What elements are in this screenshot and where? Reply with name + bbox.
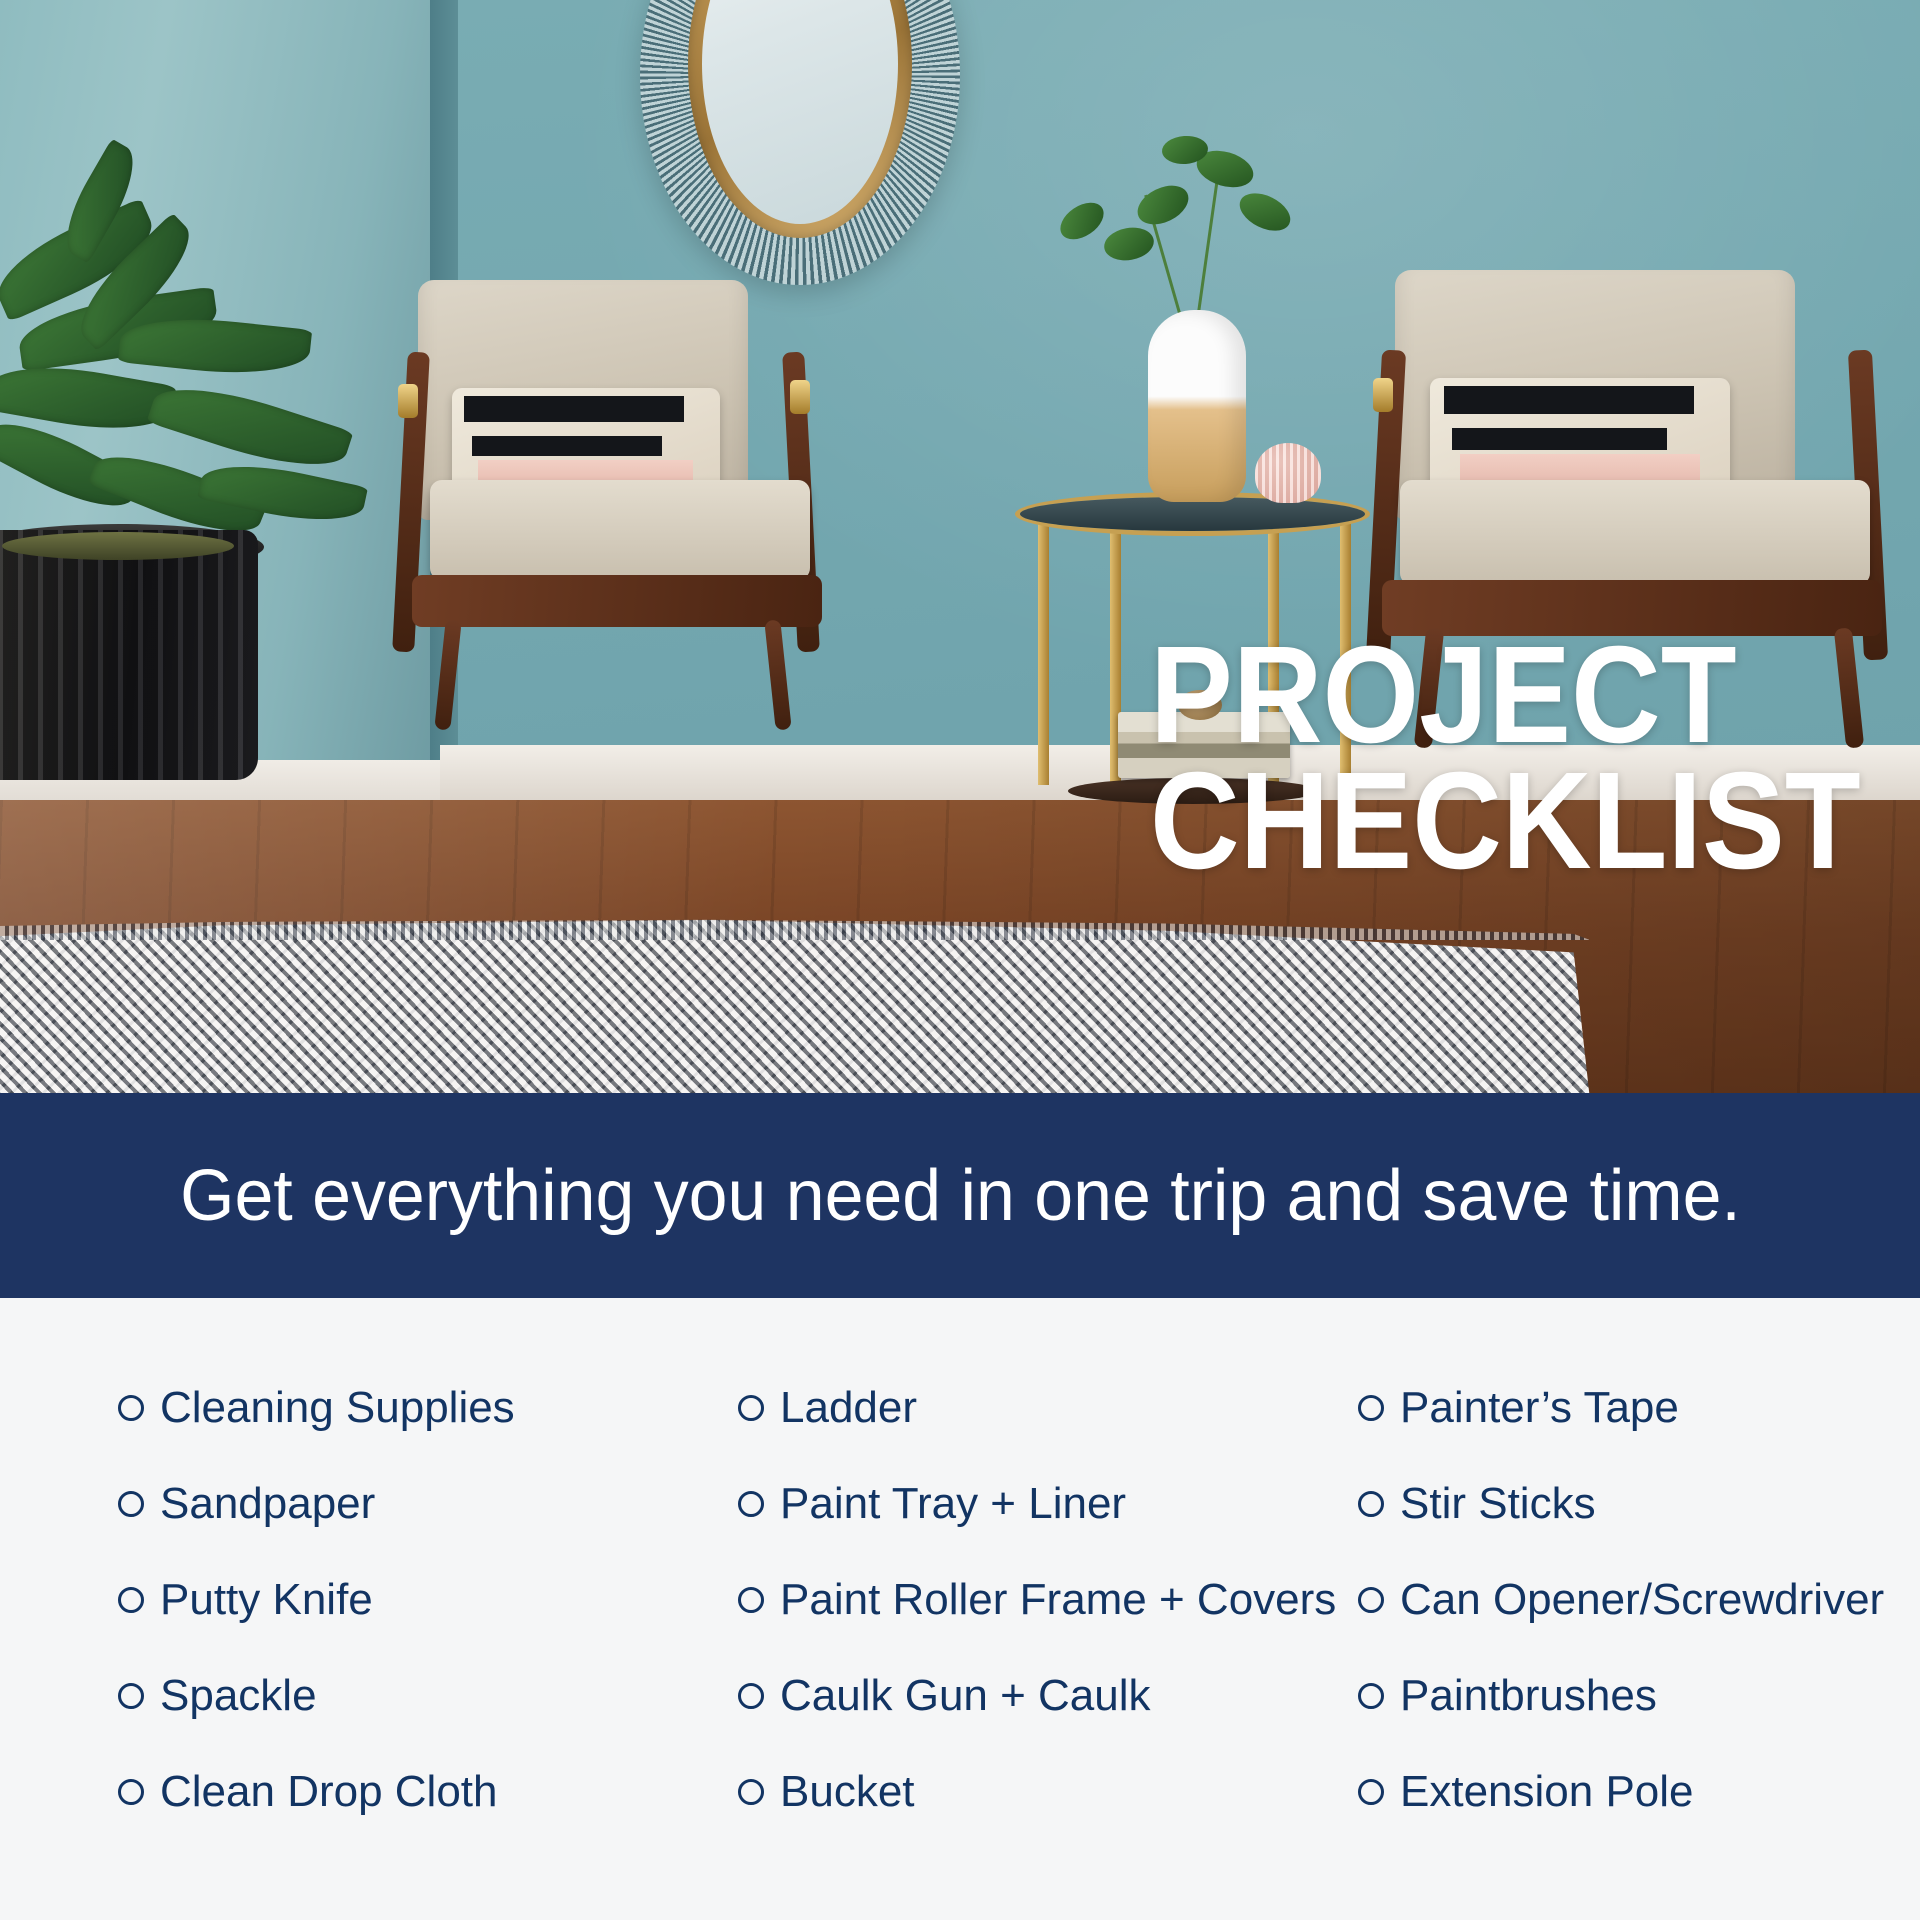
list-item-label: Sandpaper (160, 1482, 375, 1526)
tagline-text-container: Get everything you need in one trip and … (0, 1093, 1920, 1298)
empty-circle-icon[interactable] (118, 1779, 144, 1805)
empty-circle-icon[interactable] (738, 1683, 764, 1709)
list-item-label: Bucket (780, 1770, 915, 1814)
list-item-label: Ladder (780, 1386, 917, 1430)
checklist-columns: Cleaning Supplies Sandpaper Putty Knife … (118, 1360, 1878, 1840)
list-item[interactable]: Cleaning Supplies (118, 1360, 738, 1456)
interior-project-checklist-poster: INTERIOR PROJECT CHECKLIST Get everythin… (0, 0, 1920, 1920)
list-item-label: Stir Sticks (1400, 1482, 1596, 1526)
list-item[interactable]: Bucket (738, 1744, 1358, 1840)
list-item-label: Clean Drop Cloth (160, 1770, 498, 1814)
list-item[interactable]: Painter’s Tape (1358, 1360, 1878, 1456)
empty-circle-icon[interactable] (738, 1395, 764, 1421)
checklist-column-2: Ladder Paint Tray + Liner Paint Roller F… (738, 1360, 1358, 1840)
empty-circle-icon[interactable] (118, 1491, 144, 1517)
list-item[interactable]: Can Opener/Screwdriver (1358, 1552, 1878, 1648)
list-item-label: Paint Roller Frame + Covers (780, 1578, 1336, 1622)
checklist-section: Cleaning Supplies Sandpaper Putty Knife … (0, 1298, 1920, 1920)
list-item-label: Putty Knife (160, 1578, 373, 1622)
list-item[interactable]: Ladder (738, 1360, 1358, 1456)
list-item[interactable]: Putty Knife (118, 1552, 738, 1648)
list-item-label: Extension Pole (1400, 1770, 1694, 1814)
list-item-label: Cleaning Supplies (160, 1386, 515, 1430)
list-item-label: Paint Tray + Liner (780, 1482, 1126, 1526)
list-item[interactable]: Clean Drop Cloth (118, 1744, 738, 1840)
list-item-label: Spackle (160, 1674, 317, 1718)
empty-circle-icon[interactable] (738, 1491, 764, 1517)
list-item[interactable]: Stir Sticks (1358, 1456, 1878, 1552)
empty-circle-icon[interactable] (1358, 1395, 1384, 1421)
checklist-column-1: Cleaning Supplies Sandpaper Putty Knife … (118, 1360, 738, 1840)
list-item[interactable]: Sandpaper (118, 1456, 738, 1552)
list-item-label: Caulk Gun + Caulk (780, 1674, 1151, 1718)
empty-circle-icon[interactable] (118, 1395, 144, 1421)
headline-checklist: CHECKLIST (1150, 764, 1600, 880)
list-item-label: Can Opener/Screwdriver (1400, 1578, 1884, 1622)
list-item[interactable]: Caulk Gun + Caulk (738, 1648, 1358, 1744)
empty-circle-icon[interactable] (738, 1587, 764, 1613)
headline-block: INTERIOR PROJECT CHECKLIST (0, 0, 1920, 1093)
checklist-column-3: Painter’s Tape Stir Sticks Can Opener/Sc… (1358, 1360, 1878, 1840)
empty-circle-icon[interactable] (1358, 1491, 1384, 1517)
headline-secondary-wrap: PROJECT CHECKLIST (1150, 638, 1650, 880)
list-item[interactable]: Paintbrushes (1358, 1648, 1878, 1744)
empty-circle-icon[interactable] (1358, 1779, 1384, 1805)
list-item-label: Painter’s Tape (1400, 1386, 1679, 1430)
empty-circle-icon[interactable] (118, 1683, 144, 1709)
empty-circle-icon[interactable] (1358, 1587, 1384, 1613)
list-item[interactable]: Extension Pole (1358, 1744, 1878, 1840)
empty-circle-icon[interactable] (118, 1587, 144, 1613)
empty-circle-icon[interactable] (738, 1779, 764, 1805)
list-item[interactable]: Spackle (118, 1648, 738, 1744)
list-item[interactable]: Paint Roller Frame + Covers (738, 1552, 1358, 1648)
tagline-text: Get everything you need in one trip and … (180, 1155, 1741, 1237)
list-item[interactable]: Paint Tray + Liner (738, 1456, 1358, 1552)
list-item-label: Paintbrushes (1400, 1674, 1657, 1718)
empty-circle-icon[interactable] (1358, 1683, 1384, 1709)
headline-project: PROJECT (1150, 638, 1600, 754)
